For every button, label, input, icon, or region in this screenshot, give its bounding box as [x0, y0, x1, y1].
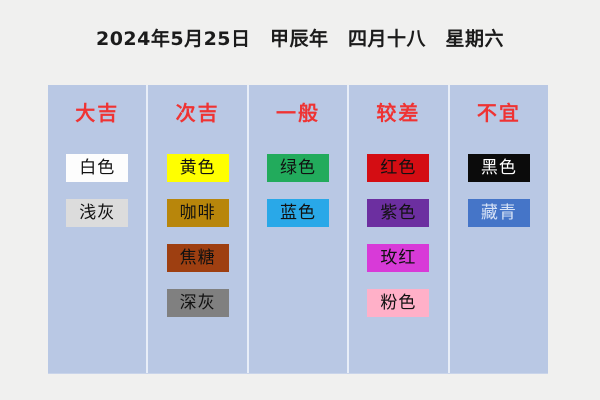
color-swatch[interactable]: 深灰: [167, 289, 229, 317]
color-column: 一般绿色蓝色: [247, 85, 347, 373]
swatch-list: 绿色蓝色: [249, 137, 347, 227]
color-swatch[interactable]: 红色: [367, 154, 429, 182]
color-swatch[interactable]: 绿色: [267, 154, 329, 182]
color-swatch[interactable]: 白色: [66, 154, 128, 182]
color-swatch[interactable]: 粉色: [367, 289, 429, 317]
swatch-list: 白色浅灰: [48, 137, 146, 227]
color-swatch[interactable]: 咖啡: [167, 199, 229, 227]
color-swatch[interactable]: 黑色: [468, 154, 530, 182]
swatch-list: 红色紫色玫红粉色: [349, 137, 447, 317]
color-swatch[interactable]: 浅灰: [66, 199, 128, 227]
color-column: 不宜黑色藏青: [448, 85, 548, 373]
color-column: 次吉黄色咖啡焦糖深灰: [146, 85, 246, 373]
color-swatch[interactable]: 紫色: [367, 199, 429, 227]
color-swatch[interactable]: 蓝色: [267, 199, 329, 227]
column-header: 大吉: [75, 103, 119, 127]
color-swatch[interactable]: 玫红: [367, 244, 429, 272]
color-swatch[interactable]: 藏青: [468, 199, 530, 227]
column-header: 较差: [376, 103, 420, 127]
color-swatch[interactable]: 黄色: [167, 154, 229, 182]
color-column: 较差红色紫色玫红粉色: [347, 85, 447, 373]
page-title: 2024年5月25日 甲辰年 四月十八 星期六: [96, 24, 504, 51]
color-swatch[interactable]: 焦糖: [167, 244, 229, 272]
lucky-color-table: 大吉白色浅灰次吉黄色咖啡焦糖深灰一般绿色蓝色较差红色紫色玫红粉色不宜黑色藏青: [48, 85, 548, 373]
title-bar: 2024年5月25日 甲辰年 四月十八 星期六: [0, 24, 600, 51]
column-header: 不宜: [477, 103, 521, 127]
column-header: 次吉: [176, 103, 220, 127]
swatch-list: 黑色藏青: [450, 137, 548, 227]
swatch-list: 黄色咖啡焦糖深灰: [148, 137, 246, 317]
column-header: 一般: [276, 103, 320, 127]
color-column: 大吉白色浅灰: [48, 85, 146, 373]
